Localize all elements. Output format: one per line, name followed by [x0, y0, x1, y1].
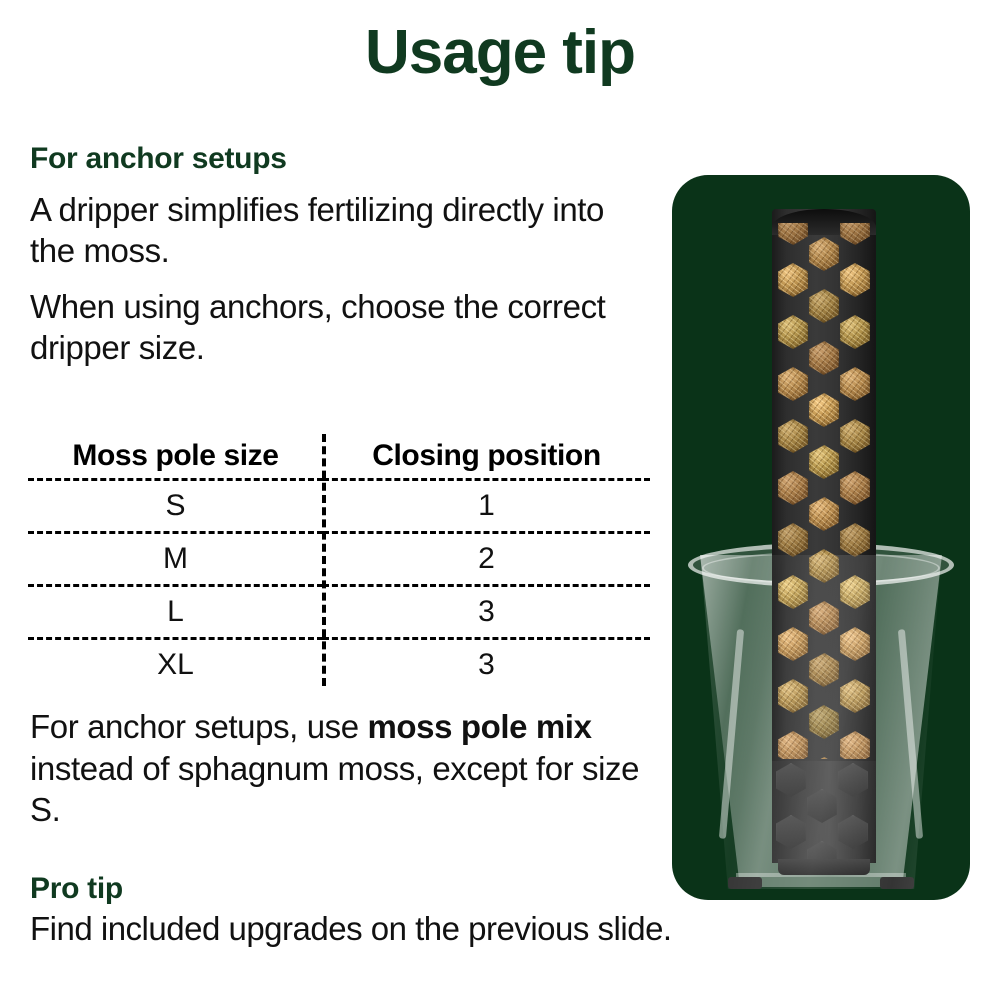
- anchor-setups-section: For anchor setups A dripper simplifies f…: [30, 142, 660, 383]
- honeycomb-cell: [840, 523, 870, 557]
- cell-position: 1: [323, 480, 650, 533]
- anchor-setups-heading: For anchor setups: [30, 142, 660, 177]
- honeycomb-cell: [809, 289, 839, 323]
- pro-tip-text: Find included upgrades on the previous s…: [30, 910, 990, 948]
- anchor-paragraph-1: A dripper simplifies fertilizing directl…: [30, 189, 650, 272]
- table-row: M 2: [28, 533, 650, 586]
- honeycomb-moss-grid: [778, 223, 870, 759]
- note-text-bold: moss pole mix: [367, 708, 591, 745]
- honeycomb-cell: [809, 393, 839, 427]
- table-header-position: Closing position: [323, 434, 650, 480]
- honeycomb-cell: [809, 445, 839, 479]
- honeycomb-cell: [809, 237, 839, 271]
- honeycomb-cell: [778, 419, 808, 453]
- honeycomb-cell: [840, 367, 870, 401]
- honeycomb-cell: [778, 575, 808, 609]
- honeycomb-cell: [809, 757, 839, 759]
- honeycomb-cell: [840, 731, 870, 759]
- honeycomb-cell: [809, 705, 840, 740]
- table-row: S 1: [28, 480, 650, 533]
- honeycomb-emboss-cell: [838, 763, 868, 797]
- honeycomb-cell: [840, 315, 870, 349]
- honeycomb-cell: [778, 731, 808, 759]
- cell-position: 3: [323, 639, 650, 691]
- honeycomb-cell: [840, 471, 870, 505]
- moss-pole-size-table: Moss pole size Closing position S 1 M 2 …: [28, 434, 650, 690]
- honeycomb-cell: [809, 341, 840, 376]
- note-text-part-2: instead of sphagnum moss, except for siz…: [30, 750, 639, 829]
- table-header-row: Moss pole size Closing position: [28, 434, 650, 480]
- honeycomb-cell: [840, 627, 870, 661]
- pot-foot-left: [728, 877, 762, 889]
- honeycomb-emboss-cell: [838, 815, 868, 849]
- honeycomb-emboss-cell: [776, 815, 806, 849]
- cell-size: M: [28, 533, 323, 586]
- honeycomb-cell: [840, 575, 870, 609]
- cell-position: 3: [323, 586, 650, 639]
- moss-pole-mix-note: For anchor setups, use moss pole mix ins…: [30, 706, 670, 845]
- honeycomb-cell: [778, 523, 808, 557]
- note-paragraph: For anchor setups, use moss pole mix ins…: [30, 706, 650, 831]
- anchor-paragraph-2: When using anchors, choose the correct d…: [30, 286, 650, 369]
- honeycomb-cell: [778, 263, 808, 297]
- honeycomb-emboss-cell: [807, 789, 837, 823]
- honeycomb-cell: [809, 601, 839, 635]
- honeycomb-cell: [778, 627, 808, 661]
- cell-size: S: [28, 480, 323, 533]
- table-row: L 3: [28, 586, 650, 639]
- cell-size: XL: [28, 639, 323, 691]
- note-text-part-1: For anchor setups, use: [30, 708, 367, 745]
- honeycomb-cell: [840, 679, 870, 713]
- honeycomb-cell: [778, 223, 808, 245]
- moss-pole-illustration: [772, 209, 876, 863]
- pot-foot-right: [880, 877, 914, 889]
- moss-pole-foot: [778, 859, 870, 875]
- honeycomb-cell: [809, 549, 840, 584]
- honeycomb-cell: [840, 419, 870, 453]
- honeycomb-cell: [809, 497, 840, 532]
- honeycomb-emboss-cell: [776, 763, 806, 797]
- table-header-size: Moss pole size: [28, 434, 323, 480]
- honeycomb-cell: [778, 315, 808, 349]
- cell-position: 2: [323, 533, 650, 586]
- honeycomb-cell: [778, 679, 808, 713]
- honeycomb-cell: [778, 367, 808, 401]
- honeycomb-cell: [840, 223, 870, 245]
- table-column-divider: [322, 434, 326, 686]
- honeycomb-cell: [778, 471, 808, 505]
- moss-pole-base-section: [772, 761, 876, 863]
- product-image-panel: [672, 175, 970, 900]
- table-row: XL 3: [28, 639, 650, 691]
- cell-size: L: [28, 586, 323, 639]
- page-title: Usage tip: [0, 22, 1000, 84]
- honeycomb-cell: [809, 653, 840, 688]
- honeycomb-cell: [840, 263, 870, 297]
